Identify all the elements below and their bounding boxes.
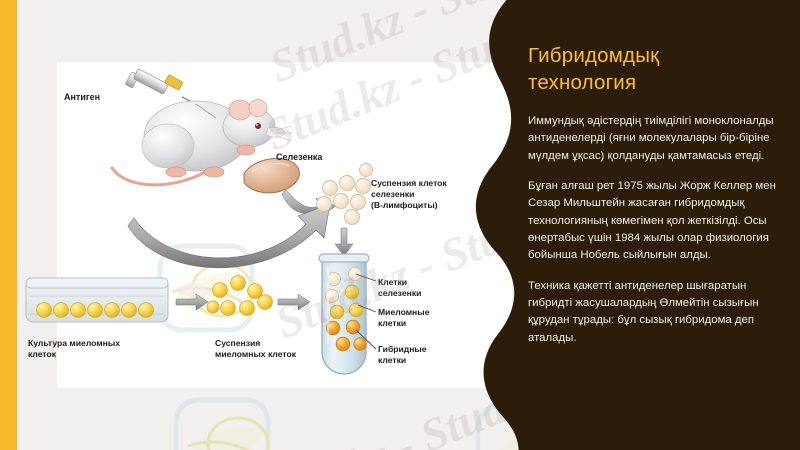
panel-paragraph-2: Бұған алғаш рет 1975 жылы Жорж Келлер ме…: [528, 178, 776, 265]
label-spleen-cells: Клетки селезенки: [378, 277, 421, 299]
label-myeloma-culture: Культура миеломных клеток: [28, 338, 120, 360]
panel-content: Гибридомдық технология Иммундық әдістерд…: [528, 42, 776, 360]
petri-dish-icon: [26, 278, 168, 322]
right-text-panel: Гибридомдық технология Иммундық әдістерд…: [470, 0, 800, 450]
test-tube-icon: [319, 254, 369, 374]
slide-canvas: Антиген Селезенка Суспензия клеток селез…: [0, 0, 800, 450]
page-title: Гибридомдық технология: [528, 42, 776, 97]
arrow-icon: [335, 228, 353, 256]
syringe-icon: [125, 69, 198, 105]
arrow-icon: [176, 294, 208, 310]
myeloma-cell-suspension: [207, 276, 272, 316]
label-spleen: Селезенка: [276, 152, 322, 164]
arrow-icon: [278, 294, 310, 310]
panel-paragraph-1: Иммундық әдістердің тиімділігі моноклона…: [528, 113, 776, 165]
panel-paragraph-3: Техника қажетті антиденелер шығаратын ги…: [528, 278, 776, 347]
spleen-icon: [244, 158, 299, 192]
label-antigen: Антиген: [64, 92, 100, 104]
arrow-icon: [128, 204, 330, 268]
label-spleen-suspension: Суспензия клеток селезенки (В-лимфоциты): [371, 178, 447, 211]
label-hybrid-cells: Гибридные клетки: [378, 344, 427, 366]
label-myeloma-cells: Миеломные клетки: [378, 307, 429, 329]
label-myeloma-suspension: Суспензия миеломных клеток: [215, 338, 296, 360]
